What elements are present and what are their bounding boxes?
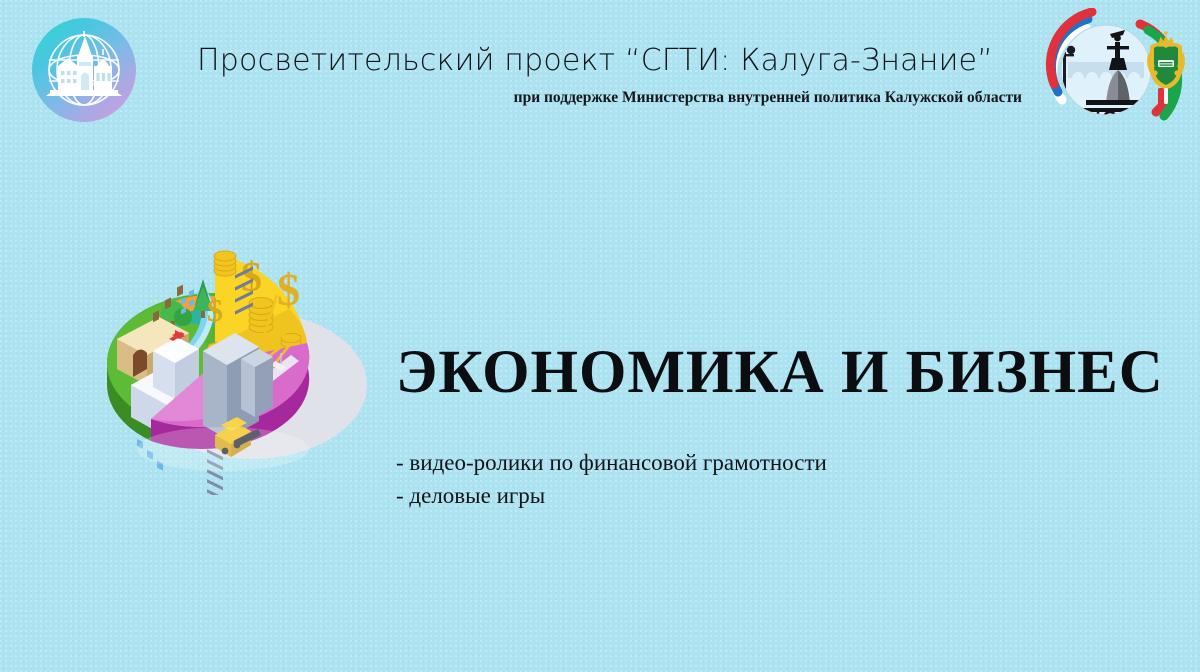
list-item: - видео-ролики по финансовой грамотности bbox=[396, 446, 1156, 479]
project-title: Просветительский проект “СГТИ: Калуга-Зн… bbox=[150, 44, 1040, 77]
brand-logo bbox=[32, 18, 136, 122]
feature-list: - видео-ролики по финансовой грамотности… bbox=[396, 446, 1156, 513]
svg-text:$: $ bbox=[277, 264, 300, 315]
header-text-block: Просветительский проект “СГТИ: Калуга-Зн… bbox=[150, 44, 1040, 107]
slide-header: Просветительский проект “СГТИ: Калуга-Зн… bbox=[0, 0, 1200, 140]
page-title: ЭКОНОМИКА И БИЗНЕС bbox=[396, 341, 1156, 405]
svg-text:$: $ bbox=[207, 292, 223, 328]
kaluga-region-emblem-icon bbox=[1028, 8, 1188, 126]
slide-canvas: Просветительский проект “СГТИ: Калуга-Зн… bbox=[0, 0, 1200, 672]
main-content: ЭКОНОМИКА И БИЗНЕС - видео-ролики по фин… bbox=[396, 300, 1156, 528]
globe-church-logo-icon bbox=[32, 18, 136, 122]
list-item: - деловые игры bbox=[396, 479, 1156, 512]
project-subtitle: при поддержке Министерства внутренней по… bbox=[150, 89, 1040, 107]
economy-illustration: $ $ $ bbox=[55, 235, 385, 495]
isometric-3d-pie-chart-city-icon: $ $ $ bbox=[55, 235, 385, 495]
region-emblem bbox=[1028, 8, 1188, 126]
